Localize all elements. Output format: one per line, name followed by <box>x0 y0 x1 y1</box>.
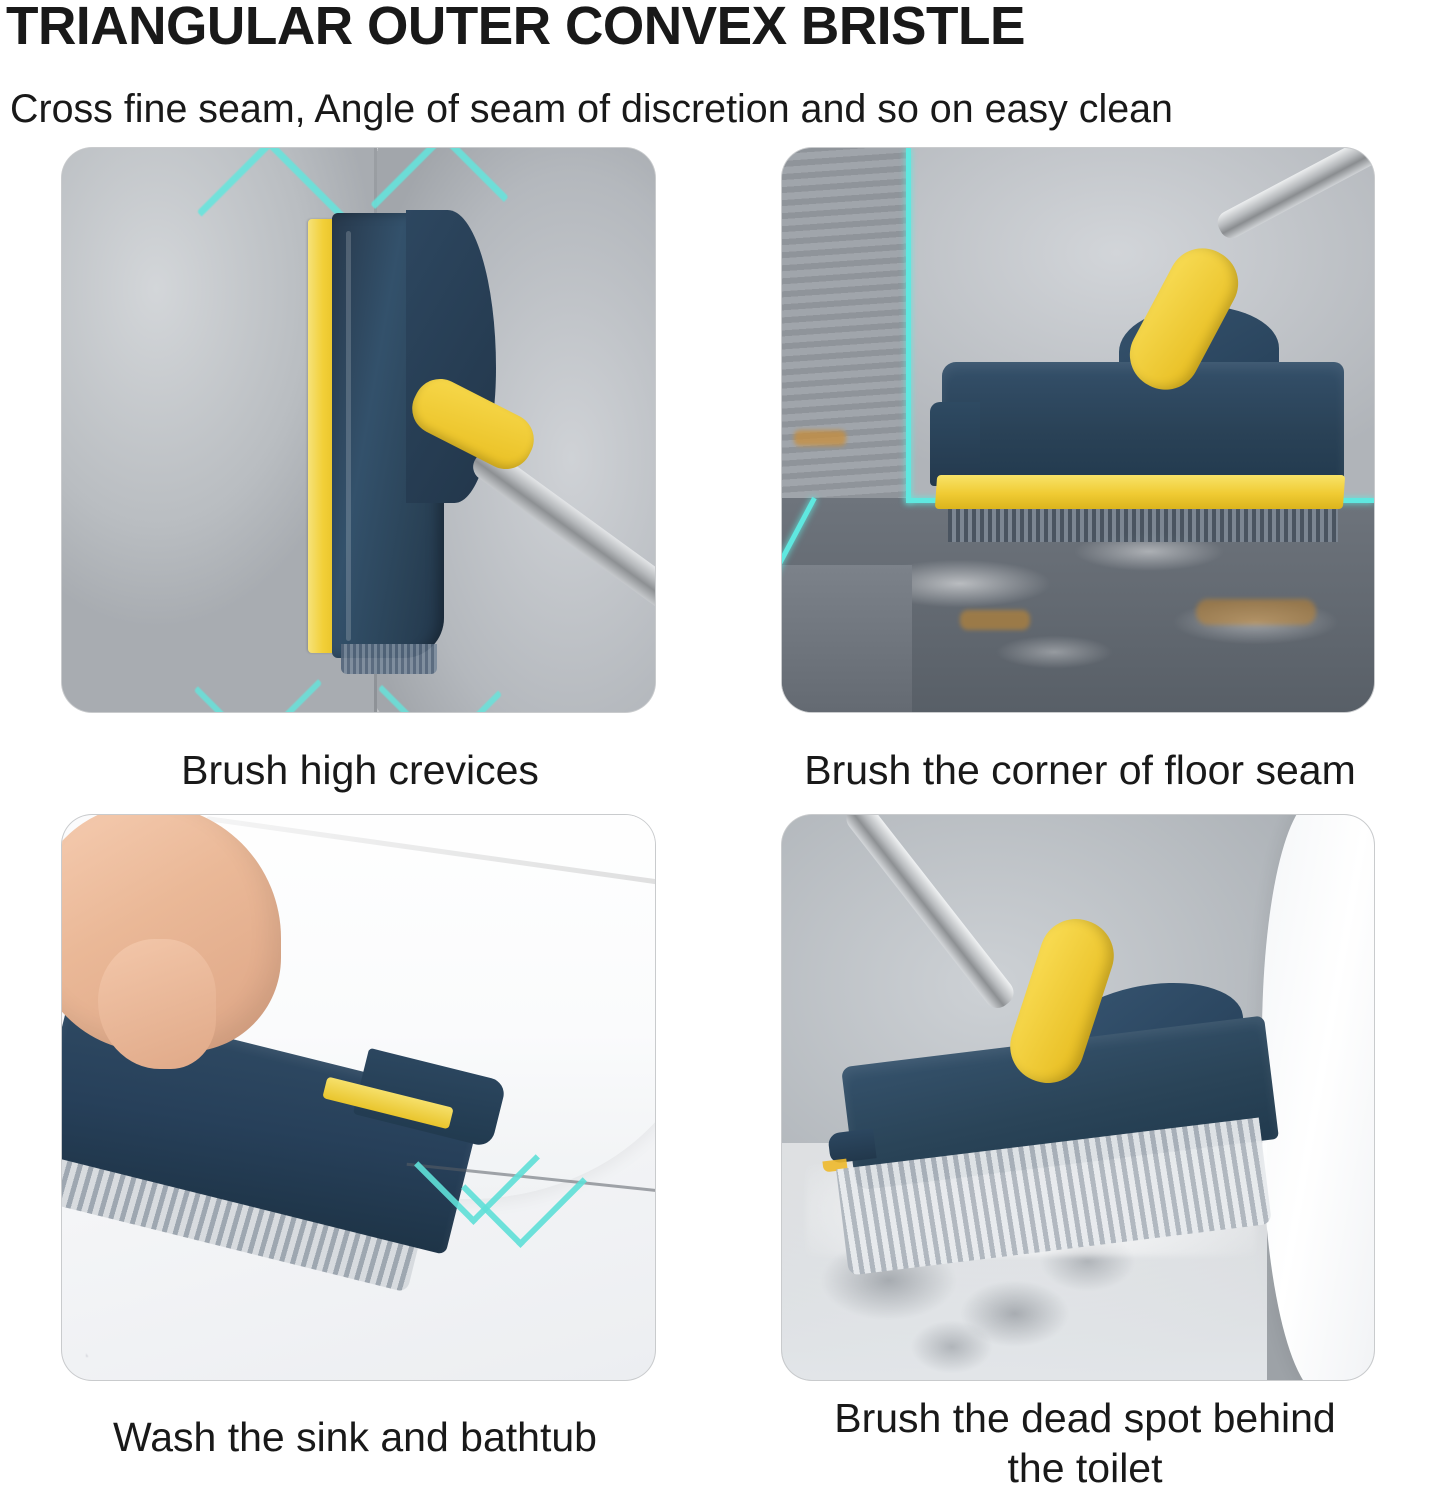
marble-vein <box>86 1256 264 1358</box>
white-toilet-base <box>1262 815 1374 1380</box>
photo-brush-high-crevices <box>62 148 655 712</box>
brush-head-tip <box>828 1129 877 1164</box>
panel-brush-corner-floor-seam <box>782 148 1374 712</box>
panel-brush-high-crevices <box>62 148 655 712</box>
page-title: TRIANGULAR OUTER CONVEX BRISTLE <box>6 0 1423 58</box>
panel-1-caption: Brush high crevices <box>30 745 690 795</box>
stain-mark <box>794 430 846 446</box>
panel-4-caption: Brush the dead spot behind the toilet <box>760 1393 1410 1493</box>
brush-bristles <box>948 506 1339 542</box>
stain-mark <box>960 610 1030 630</box>
brush-head-tip <box>930 402 980 487</box>
stain-mark <box>1196 599 1316 625</box>
panel-wash-sink-bathtub <box>62 815 655 1380</box>
floor-side-strip <box>782 565 912 712</box>
panel-3-caption: Wash the sink and bathtub <box>20 1412 690 1462</box>
cyan-seam-line-vertical <box>906 148 911 503</box>
panel-brush-dead-spot-toilet <box>782 815 1374 1380</box>
photo-brush-corner-floor-seam <box>782 148 1374 712</box>
squeegee-blade <box>935 475 1346 509</box>
photo-brush-dead-spot-toilet <box>782 815 1374 1380</box>
panel-2-caption: Brush the corner of floor seam <box>740 745 1420 795</box>
photo-wash-sink-bathtub <box>62 815 655 1380</box>
page-subtitle: Cross fine seam, Angle of seam of discre… <box>10 84 1423 134</box>
